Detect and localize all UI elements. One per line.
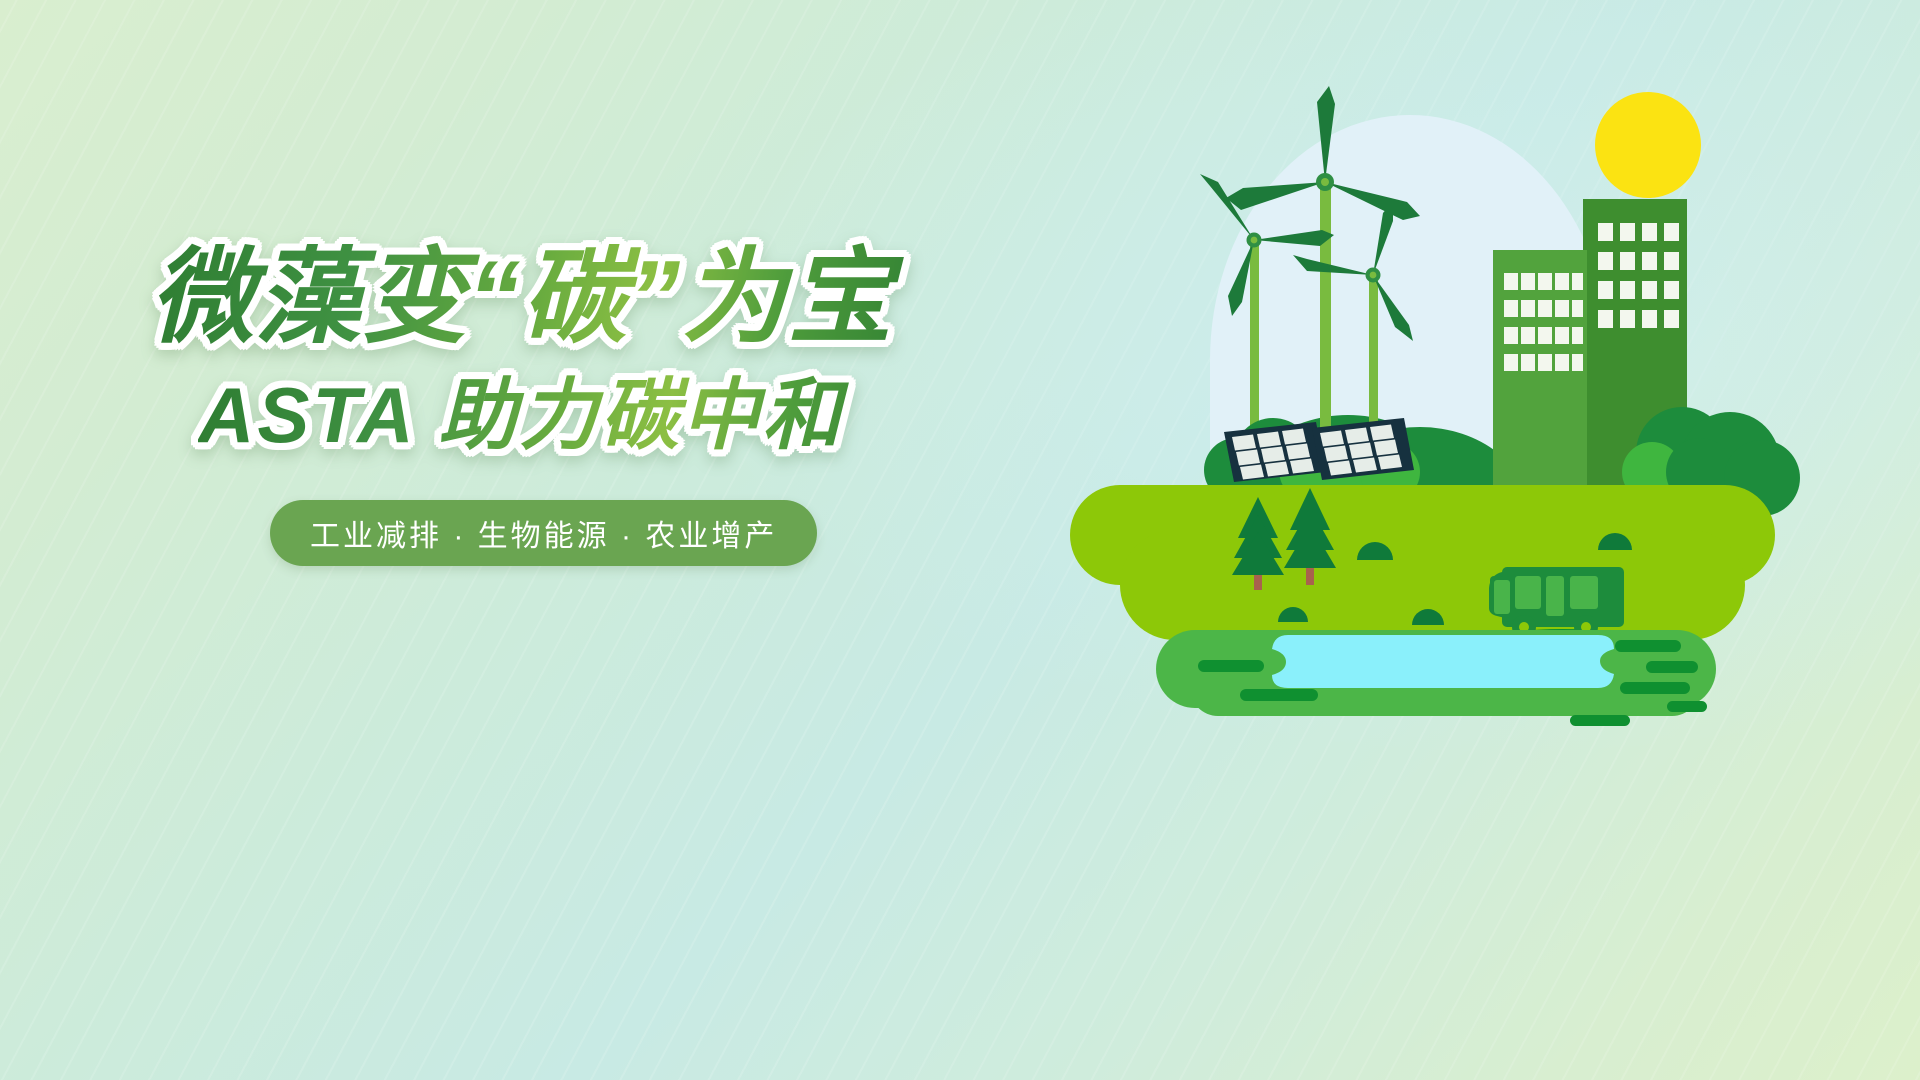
headline-line-1: 微藻变“碳”为宝 bbox=[150, 240, 930, 356]
building-short bbox=[1493, 250, 1587, 490]
headline-line-2: ASTA 助力碳中和 bbox=[198, 372, 930, 459]
lake bbox=[1272, 635, 1614, 688]
headline-block: 微藻变“碳”为宝 ASTA 助力碳中和 工业减排 · 生物能源 · 农业增产 bbox=[150, 240, 930, 566]
banner-canvas: 微藻变“碳”为宝 ASTA 助力碳中和 工业减排 · 生物能源 · 农业增产 bbox=[0, 0, 1920, 1080]
tagline-pill: 工业减排 · 生物能源 · 农业增产 bbox=[270, 500, 817, 566]
eco-city-illustration bbox=[1090, 60, 1830, 680]
sun-icon bbox=[1595, 92, 1701, 198]
